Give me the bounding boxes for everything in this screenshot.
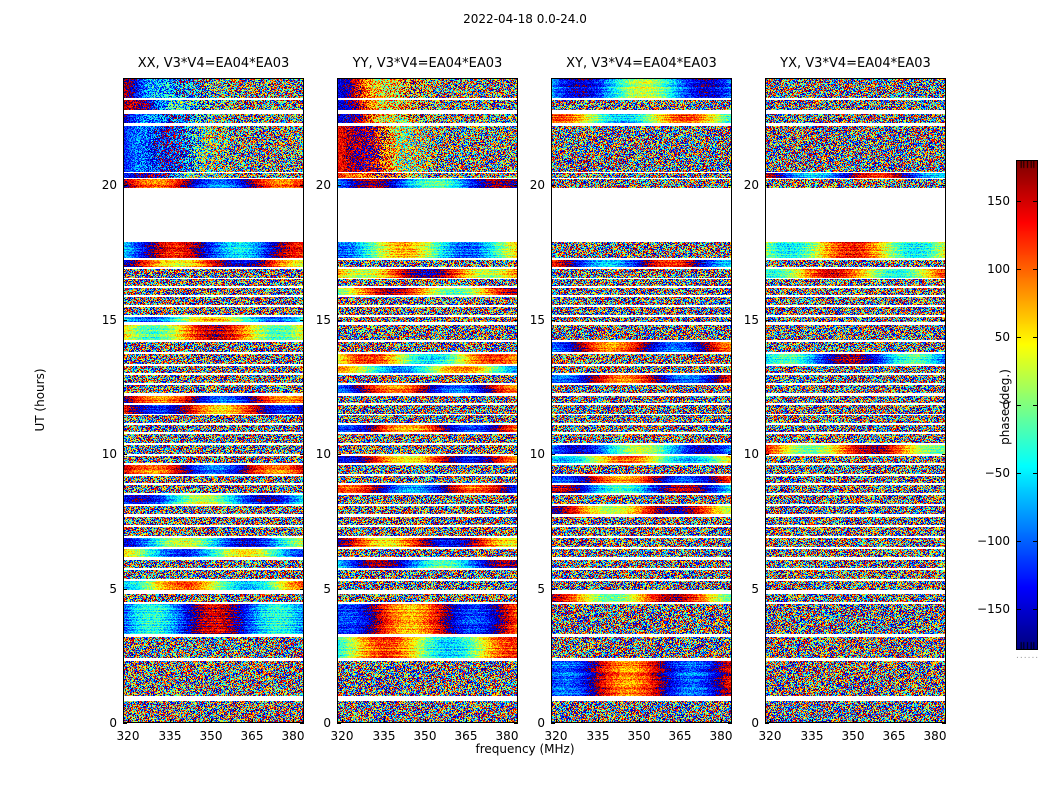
colorbar[interactable]: 150100500−50−100−150 bbox=[1016, 160, 1038, 650]
y-tick-label: 20 bbox=[77, 178, 117, 192]
x-tick-mark bbox=[935, 719, 936, 723]
colorbar-tick-mark bbox=[1016, 337, 1021, 338]
panel-title-yx: YX, V3*V4=EA04*EA03 bbox=[765, 56, 946, 71]
x-tick-mark bbox=[894, 719, 895, 723]
colorbar-tick-mark bbox=[1033, 473, 1038, 474]
y-tick-mark bbox=[123, 185, 127, 186]
y-tick-label: 10 bbox=[505, 447, 545, 461]
colorbar-extend-dots: ...... bbox=[1016, 654, 1038, 658]
colorbar-tick-label: 100 bbox=[987, 262, 1016, 276]
colorbar-tick-mark bbox=[1033, 609, 1038, 610]
colorbar-tick-label: −100 bbox=[977, 534, 1016, 548]
x-tick-mark bbox=[556, 719, 557, 723]
y-tick-label: 0 bbox=[77, 716, 117, 730]
y-tick-mark bbox=[551, 185, 555, 186]
y-tick-mark bbox=[123, 454, 127, 455]
y-tick-label: 15 bbox=[291, 313, 331, 327]
panel-xy[interactable]: XY, V3*V4=EA04*EA03051015203203353503653… bbox=[551, 78, 732, 723]
x-tick-mark bbox=[252, 719, 253, 723]
x-tick-mark bbox=[128, 719, 129, 723]
x-tick-mark bbox=[812, 719, 813, 723]
colorbar-tick-mark bbox=[1016, 405, 1021, 406]
x-tick-label: 365 bbox=[455, 729, 478, 743]
y-tick-label: 15 bbox=[77, 313, 117, 327]
y-tick-mark bbox=[765, 320, 769, 321]
x-tick-label: 365 bbox=[669, 729, 692, 743]
y-tick-mark bbox=[337, 320, 341, 321]
colorbar-tick-label: 150 bbox=[987, 194, 1016, 208]
figure-suptitle: 2022-04-18 0.0-24.0 bbox=[0, 12, 1050, 26]
y-tick-label: 5 bbox=[291, 582, 331, 596]
y-tick-label: 0 bbox=[719, 716, 759, 730]
x-tick-label: 365 bbox=[883, 729, 906, 743]
colorbar-tick-mark bbox=[1016, 609, 1021, 610]
colorbar-label: phase (deg.) bbox=[998, 307, 1012, 507]
plot-area-yy[interactable] bbox=[337, 78, 518, 723]
x-tick-label: 350 bbox=[628, 729, 651, 743]
x-tick-mark bbox=[170, 719, 171, 723]
waterfall-image-yy bbox=[338, 79, 518, 723]
x-tick-label: 350 bbox=[414, 729, 437, 743]
y-tick-label: 5 bbox=[505, 582, 545, 596]
x-axis-label: frequency (MHz) bbox=[0, 742, 1050, 756]
x-tick-mark bbox=[211, 719, 212, 723]
plot-area-yx[interactable] bbox=[765, 78, 946, 723]
colorbar-tick-mark bbox=[1016, 473, 1021, 474]
plot-area-xy[interactable] bbox=[551, 78, 732, 723]
x-tick-mark bbox=[680, 719, 681, 723]
x-tick-mark bbox=[770, 719, 771, 723]
y-tick-mark bbox=[123, 589, 127, 590]
colorbar-tick-mark bbox=[1033, 337, 1038, 338]
panel-title-xy: XY, V3*V4=EA04*EA03 bbox=[551, 56, 732, 71]
colorbar-tick-mark bbox=[1016, 541, 1021, 542]
y-tick-label: 10 bbox=[719, 447, 759, 461]
y-tick-mark bbox=[551, 320, 555, 321]
x-tick-mark bbox=[384, 719, 385, 723]
x-tick-mark bbox=[639, 719, 640, 723]
y-tick-label: 10 bbox=[77, 447, 117, 461]
x-tick-label: 380 bbox=[496, 729, 519, 743]
y-tick-mark bbox=[942, 185, 946, 186]
x-tick-label: 320 bbox=[331, 729, 354, 743]
colorbar-tick-mark bbox=[1033, 201, 1038, 202]
waterfall-image-xx bbox=[124, 79, 304, 723]
x-tick-label: 320 bbox=[545, 729, 568, 743]
figure-canvas: 2022-04-18 0.0-24.0 XX, V3*V4=EA04*EA030… bbox=[0, 0, 1050, 800]
panel-title-xx: XX, V3*V4=EA04*EA03 bbox=[123, 56, 304, 71]
y-tick-mark bbox=[765, 185, 769, 186]
y-tick-mark bbox=[551, 454, 555, 455]
x-tick-label: 320 bbox=[117, 729, 140, 743]
colorbar-tick-mark bbox=[1016, 201, 1021, 202]
y-tick-label: 5 bbox=[77, 582, 117, 596]
x-tick-label: 350 bbox=[842, 729, 865, 743]
y-tick-label: 15 bbox=[505, 313, 545, 327]
colorbar-tick-mark bbox=[1016, 269, 1021, 270]
y-tick-label: 20 bbox=[719, 178, 759, 192]
y-tick-mark bbox=[337, 454, 341, 455]
y-axis-label: UT (hours) bbox=[33, 320, 47, 480]
x-tick-label: 320 bbox=[759, 729, 782, 743]
x-tick-label: 335 bbox=[587, 729, 610, 743]
x-tick-label: 380 bbox=[282, 729, 305, 743]
x-tick-mark bbox=[598, 719, 599, 723]
y-tick-mark bbox=[765, 454, 769, 455]
y-tick-label: 15 bbox=[719, 313, 759, 327]
y-tick-mark bbox=[765, 589, 769, 590]
panel-xx[interactable]: XX, V3*V4=EA04*EA03051015203203353503653… bbox=[123, 78, 304, 723]
x-tick-label: 380 bbox=[924, 729, 947, 743]
colorbar-tick-label: −150 bbox=[977, 602, 1016, 616]
y-tick-label: 20 bbox=[291, 178, 331, 192]
x-tick-label: 350 bbox=[200, 729, 223, 743]
y-tick-label: 0 bbox=[505, 716, 545, 730]
x-tick-label: 335 bbox=[159, 729, 182, 743]
x-tick-label: 380 bbox=[710, 729, 733, 743]
panel-title-yy: YY, V3*V4=EA04*EA03 bbox=[337, 56, 518, 71]
panel-yx[interactable]: YX, V3*V4=EA04*EA03051015203203353503653… bbox=[765, 78, 946, 723]
colorbar-tick-mark bbox=[1033, 405, 1038, 406]
y-tick-mark bbox=[765, 723, 769, 724]
y-tick-label: 0 bbox=[291, 716, 331, 730]
panel-yy[interactable]: YY, V3*V4=EA04*EA03051015203203353503653… bbox=[337, 78, 518, 723]
y-tick-mark bbox=[123, 320, 127, 321]
x-tick-mark bbox=[466, 719, 467, 723]
x-tick-label: 365 bbox=[241, 729, 264, 743]
y-tick-mark bbox=[551, 723, 555, 724]
y-tick-label: 20 bbox=[505, 178, 545, 192]
x-tick-mark bbox=[425, 719, 426, 723]
y-tick-label: 10 bbox=[291, 447, 331, 461]
waterfall-image-xy bbox=[552, 79, 732, 723]
x-tick-label: 335 bbox=[801, 729, 824, 743]
y-tick-mark bbox=[337, 185, 341, 186]
y-tick-mark bbox=[942, 723, 946, 724]
y-tick-mark bbox=[123, 723, 127, 724]
x-tick-mark bbox=[342, 719, 343, 723]
y-tick-mark bbox=[942, 320, 946, 321]
colorbar-tick-mark bbox=[1033, 541, 1038, 542]
y-tick-mark bbox=[337, 589, 341, 590]
y-tick-label: 5 bbox=[719, 582, 759, 596]
colorbar-tick-mark bbox=[1033, 269, 1038, 270]
x-tick-mark bbox=[853, 719, 854, 723]
plot-area-xx[interactable] bbox=[123, 78, 304, 723]
x-tick-label: 335 bbox=[373, 729, 396, 743]
y-tick-mark bbox=[942, 454, 946, 455]
y-tick-mark bbox=[337, 723, 341, 724]
y-tick-mark bbox=[551, 589, 555, 590]
y-tick-mark bbox=[942, 589, 946, 590]
waterfall-image-yx bbox=[766, 79, 946, 723]
